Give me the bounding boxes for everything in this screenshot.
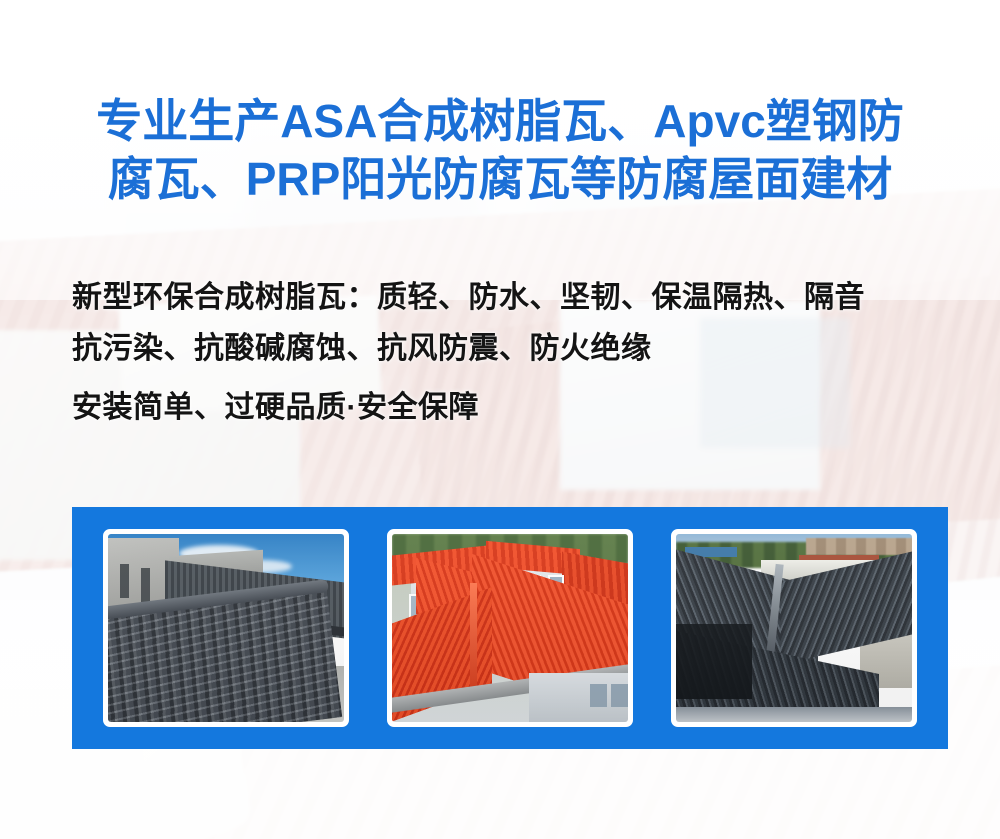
photo1-window-b: [141, 568, 150, 602]
headline-line-1: 专业生产ASA合成树脂瓦、Apvc塑钢防: [0, 92, 1000, 150]
photo2-lower-window-b: [611, 684, 628, 707]
photo3-distant-buildings: [806, 538, 912, 555]
subheadline-line-2: 抗污染、抗酸碱腐蚀、抗风防震、防火绝缘: [72, 323, 972, 374]
dark-grey-tile-roof-photo-canvas: [676, 534, 912, 722]
photo3-foreground: [676, 707, 912, 722]
red-tile-roof-photo[interactable]: [387, 529, 633, 727]
subheadline-line-1: 新型环保合成树脂瓦：质轻、防水、坚韧、保温隔热、隔音: [72, 272, 972, 323]
dark-grey-tile-roof-photo[interactable]: [671, 529, 917, 727]
photo-gallery-panel: [72, 507, 948, 749]
photo2-roof-hip: [470, 583, 477, 700]
headline-line-2: 腐瓦、PRP阳光防腐瓦等防腐屋面建材: [0, 150, 1000, 208]
photo1-window-a: [120, 564, 129, 598]
grey-barrel-tile-roof-photo[interactable]: [103, 529, 349, 727]
subheadline-line-3: 安装简单、过硬品质·安全保障: [72, 382, 972, 433]
red-tile-roof-photo-canvas: [392, 534, 628, 722]
grey-barrel-tile-roof-photo-canvas: [108, 534, 344, 722]
headline: 专业生产ASA合成树脂瓦、Apvc塑钢防 腐瓦、PRP阳光防腐瓦等防腐屋面建材: [0, 92, 1000, 208]
product-banner: 专业生产ASA合成树脂瓦、Apvc塑钢防 腐瓦、PRP阳光防腐瓦等防腐屋面建材 …: [0, 0, 1000, 839]
photo2-lower-window-a: [590, 684, 607, 707]
photo3-shadow-area: [676, 624, 752, 699]
subheadline: 新型环保合成树脂瓦：质轻、防水、坚韧、保温隔热、隔音 抗污染、抗酸碱腐蚀、抗风防…: [72, 272, 972, 433]
